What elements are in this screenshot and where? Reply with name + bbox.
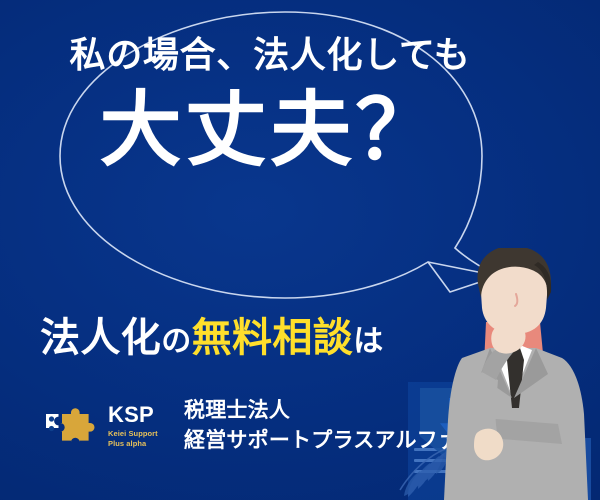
ksp-logo: KSP Keiei Support Plus alpha — [44, 400, 162, 452]
puzzle-piece-icon — [44, 403, 104, 449]
logo-tagline-line1: Keiei Support — [108, 429, 158, 439]
company-line2: 経営サポートプラスアルファ — [184, 426, 459, 456]
logo-tagline: Keiei Support Plus alpha — [108, 429, 158, 449]
headline-highlight: 無料相談 — [192, 316, 354, 360]
sub-headline: 法人化の無料相談は — [40, 316, 384, 361]
headline-particle1: の — [161, 325, 191, 358]
headline-part1: 法人化 — [40, 316, 161, 360]
advertisement-banner: 私の場合、法人化しても 大丈夫？ 法人化の無料相談は KSP Keiei Sup… — [0, 0, 600, 500]
headline-particle2: は — [353, 325, 383, 358]
company-name: 税理士法人 経営サポートプラスアルファ — [184, 396, 459, 457]
logo-and-company: KSP Keiei Support Plus alpha 税理士法人 経営サポー… — [44, 396, 459, 457]
logo-name: KSP — [108, 404, 158, 426]
bubble-text-block: 私の場合、法人化しても 大丈夫？ — [60, 34, 480, 177]
businessman-thinking-illustration — [420, 248, 600, 500]
bubble-line-big: 大丈夫？ — [60, 86, 480, 176]
bubble-line-small: 私の場合、法人化しても — [60, 34, 480, 76]
company-line1: 税理士法人 — [184, 396, 459, 426]
logo-text: KSP Keiei Support Plus alpha — [108, 404, 158, 449]
logo-tagline-line2: Plus alpha — [108, 439, 158, 449]
